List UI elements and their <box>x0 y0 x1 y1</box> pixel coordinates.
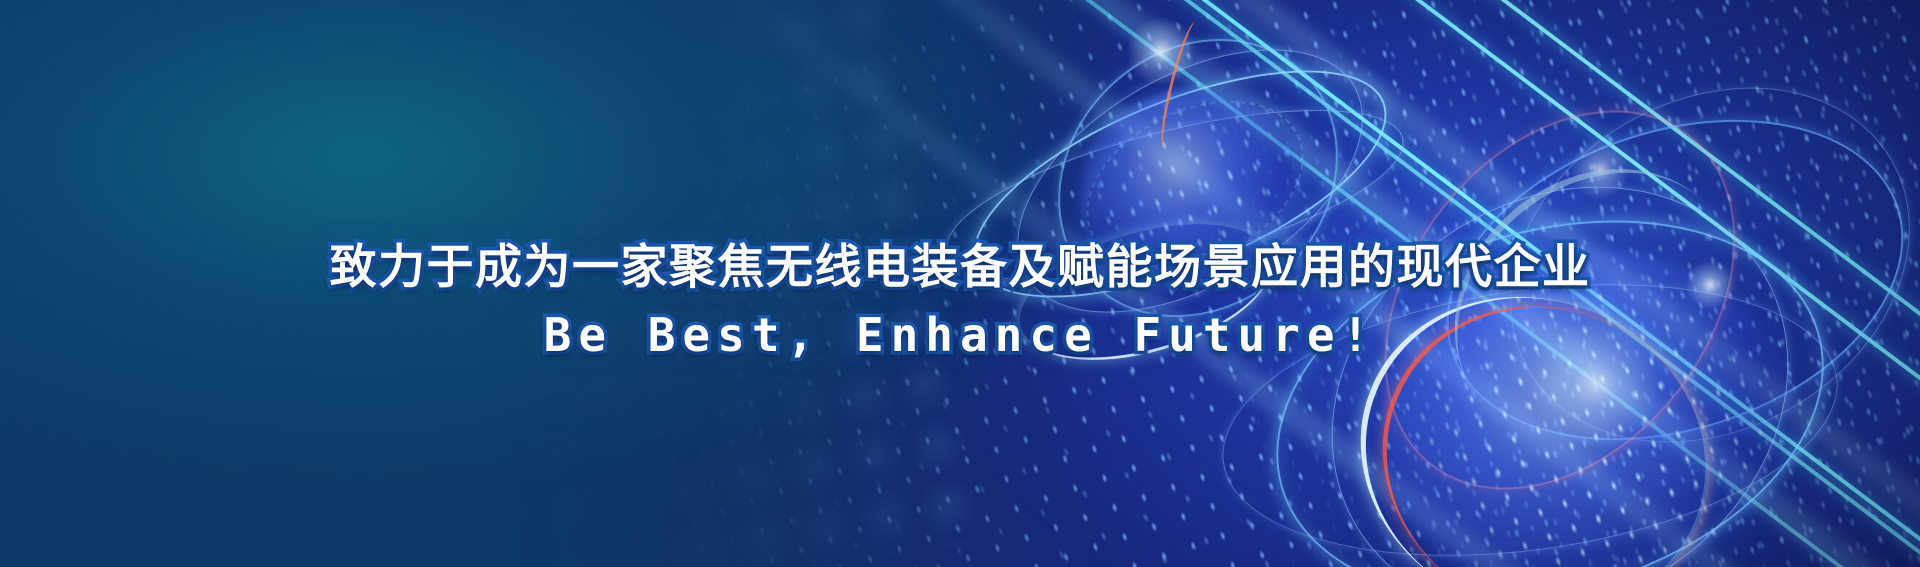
hero-banner: 致力于成为一家聚焦无线电装备及赋能场景应用的现代企业 Be Best, Enha… <box>0 0 1920 567</box>
glowing-data-sphere <box>1230 190 1870 567</box>
